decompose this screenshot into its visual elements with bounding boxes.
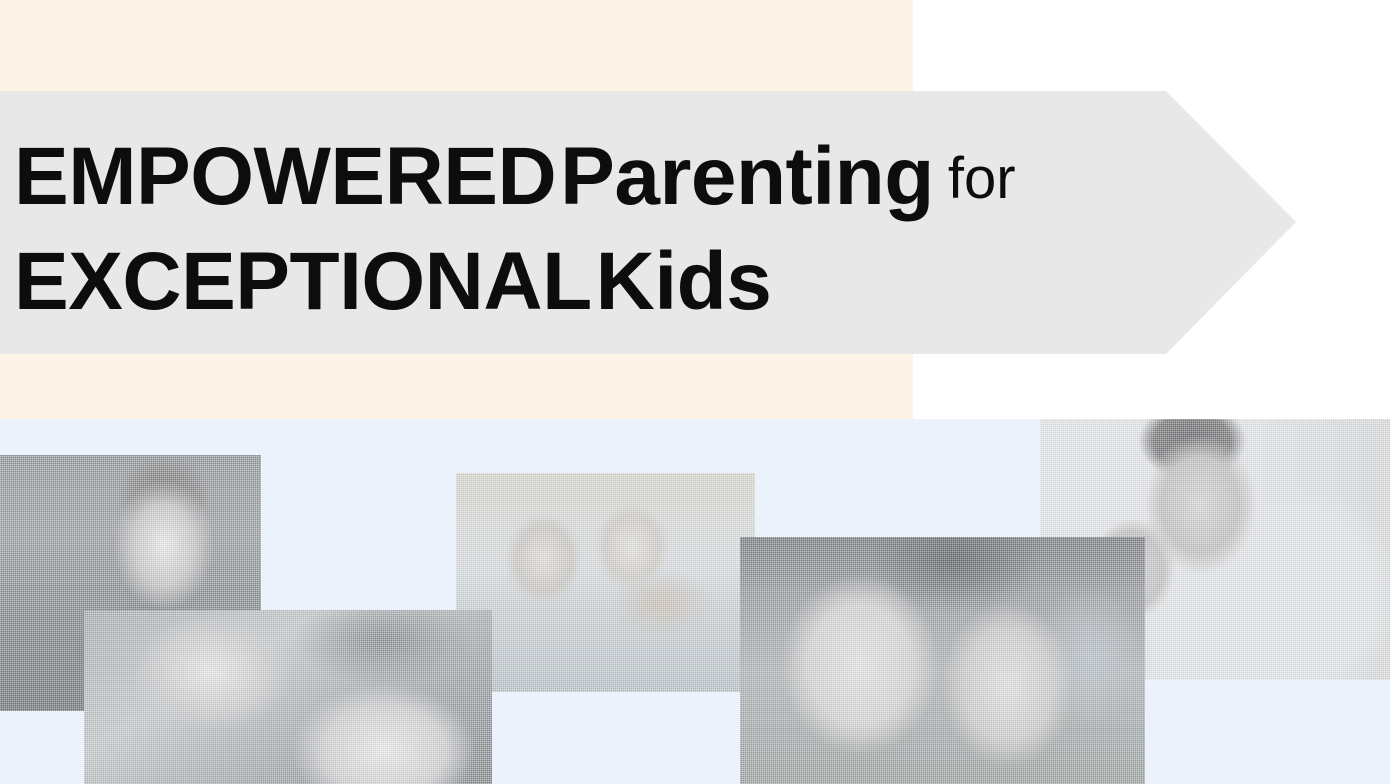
photo-image — [456, 473, 755, 692]
title-word-exceptional: EXCEPTIONAL — [14, 236, 592, 327]
collage-photo-sleeping-faces — [84, 610, 492, 784]
title-word-for: for — [948, 146, 1016, 211]
photo-image — [84, 610, 492, 784]
title-word-parenting: Parenting — [560, 131, 934, 222]
photo-collage — [0, 419, 1390, 784]
title-word-empowered: EMPOWERED — [14, 131, 556, 222]
collage-photo-selfie-parent-and-teen — [740, 537, 1145, 784]
title-line-1: EMPOWERED Parentingfor — [14, 125, 1134, 230]
title-slide: EMPOWERED Parentingfor EXCEPTIONAL Kids — [0, 0, 1390, 784]
collage-photo-kids-at-beach — [456, 473, 755, 692]
top-zone: EMPOWERED Parentingfor EXCEPTIONAL Kids — [0, 0, 1390, 419]
title-line-2: EXCEPTIONAL Kids — [14, 230, 1134, 335]
title-word-kids: Kids — [596, 236, 772, 327]
arrow-banner: EMPOWERED Parentingfor EXCEPTIONAL Kids — [0, 91, 1296, 354]
photo-image — [740, 537, 1145, 784]
page-title: EMPOWERED Parentingfor EXCEPTIONAL Kids — [14, 125, 1134, 335]
